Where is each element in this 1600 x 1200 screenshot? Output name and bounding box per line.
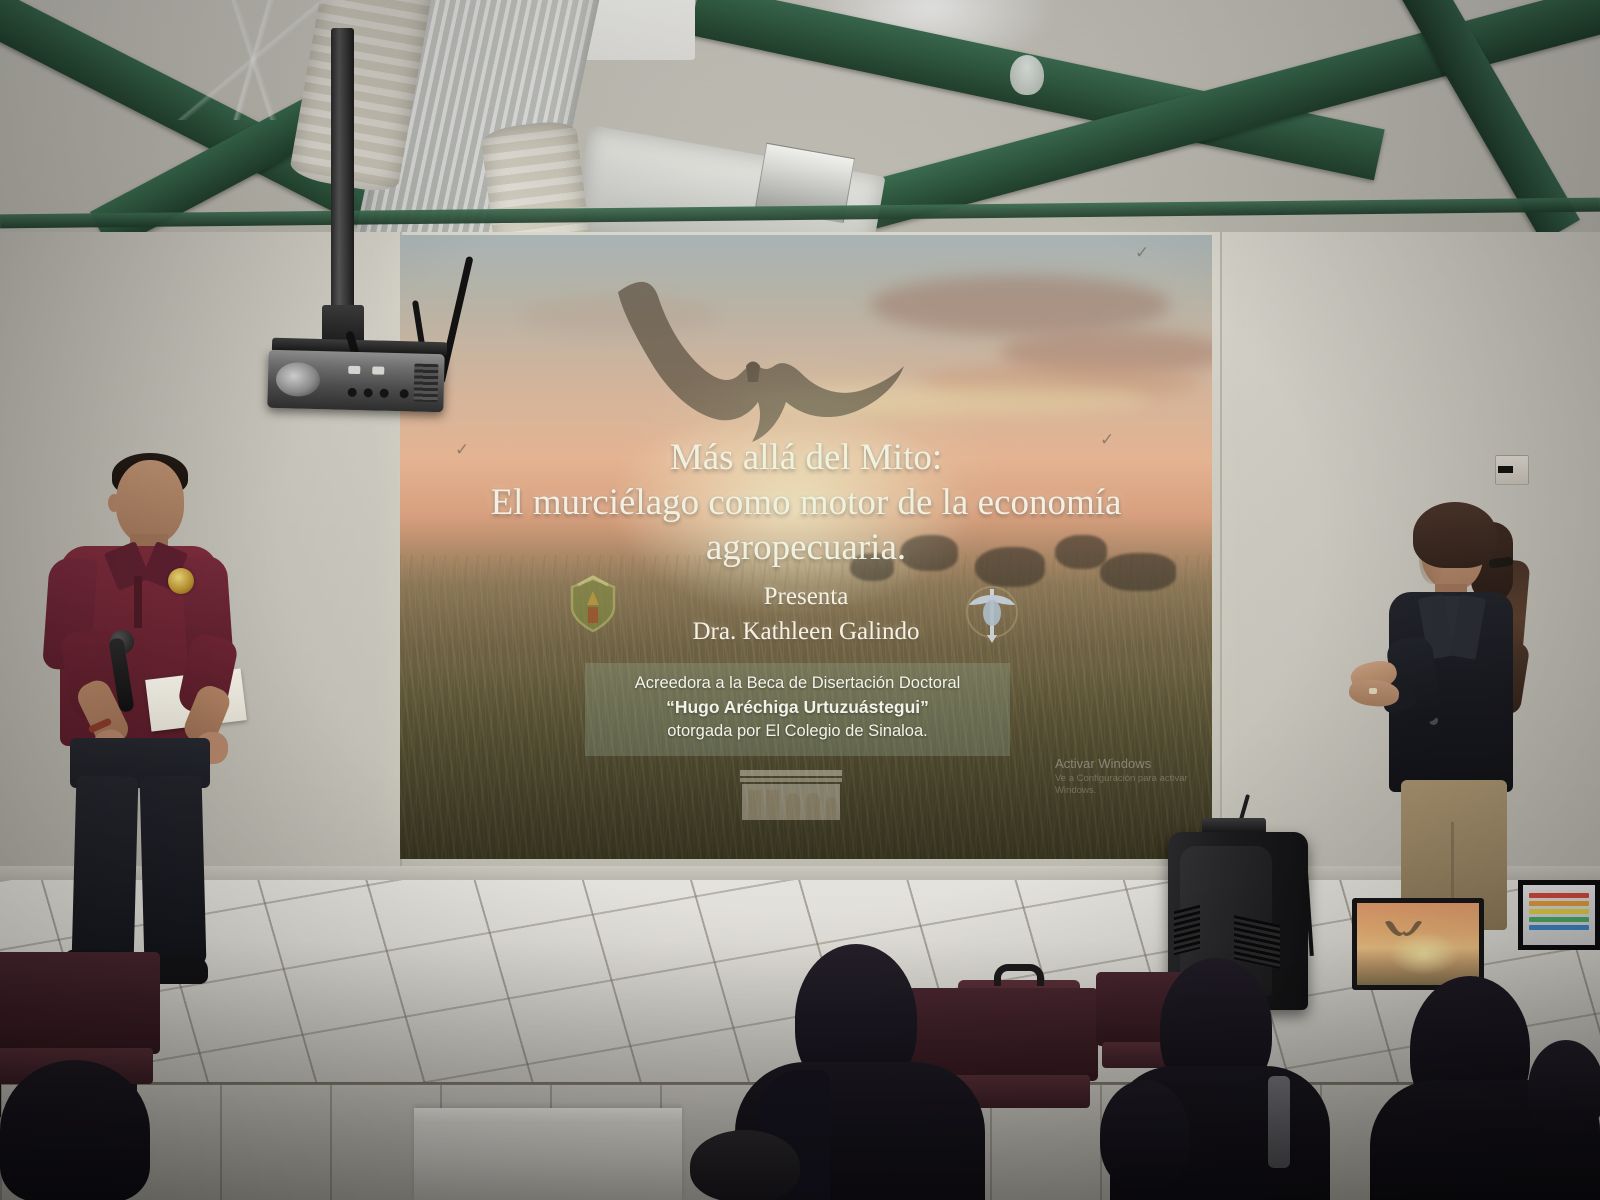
bat-silhouette	[600, 270, 910, 455]
projected-slide: ✓ ✓ ✓ Más allá del Mito: El murciélago c…	[400, 235, 1212, 859]
colegio-de-sinaloa-building-logo	[736, 760, 846, 824]
chair-leg	[0, 1084, 1, 1117]
windows-activation-watermark: Activar Windows Ve a Configuración para …	[1055, 755, 1212, 798]
jacket-stripe	[1268, 1076, 1290, 1168]
projector-button[interactable]	[372, 366, 384, 374]
slide-title-line-2: El murciélago como motor de la economía	[420, 480, 1192, 525]
ring	[1369, 688, 1377, 694]
award-line-2: “Hugo Aréchiga Urtuzuástegui”	[593, 695, 1002, 720]
head	[116, 460, 184, 544]
audience-head	[1100, 1080, 1190, 1190]
projector-vent	[413, 364, 438, 403]
award-line-1: Acreedora a la Beca de Disertación Docto…	[593, 672, 1002, 695]
audience-silhouettes	[0, 880, 1600, 1200]
bird-silhouette: ✓	[1135, 243, 1149, 263]
slide-title-line-1: Más allá del Mito:	[420, 435, 1192, 480]
slide-title-line-3: agropecuaria.	[420, 525, 1192, 570]
veterinary-caduceus-logo	[963, 579, 1021, 645]
polo-placket	[134, 576, 142, 628]
projector-mount-pole	[331, 28, 354, 328]
award-line-3: otorgada por El Colegio de Sinaloa.	[593, 720, 1002, 743]
projector-mount-bracket	[322, 305, 364, 343]
projector-port	[400, 389, 409, 398]
audience-head	[690, 1130, 800, 1200]
cloud	[870, 275, 1170, 335]
projector-button[interactable]	[348, 366, 360, 374]
watermark-title: Activar Windows	[1055, 755, 1212, 773]
audience-head	[1528, 1040, 1600, 1136]
ear	[108, 494, 120, 512]
slide-presenter-block: Presenta Dra. Kathleen Galindo	[420, 580, 1192, 649]
audience-head	[0, 1060, 150, 1200]
shirt-emblem-badge	[168, 568, 194, 594]
presenter-name: Dra. Kathleen Galindo	[420, 615, 1192, 650]
presentation-scene: ✓ ✓ ✓ Más allá del Mito: El murciélago c…	[0, 0, 1600, 1200]
projector-port	[380, 389, 389, 398]
presenta-label: Presenta	[420, 580, 1192, 615]
slide-title: Más allá del Mito: El murciélago como mo…	[420, 435, 1192, 570]
award-text-box: Acreedora a la Beca de Disertación Docto…	[585, 663, 1010, 756]
projector-port	[348, 388, 357, 397]
ceiling-projector	[267, 350, 444, 413]
wall-seam	[1220, 232, 1222, 892]
ceiling-lamp	[1010, 55, 1044, 95]
ceiling	[0, 0, 1600, 232]
hair	[1413, 502, 1497, 568]
light-switch-rocker[interactable]	[1498, 466, 1513, 473]
watermark-subtitle: Ve a Configuración para activar Windows.	[1055, 773, 1212, 799]
projector-lens	[276, 362, 321, 397]
projector-port	[364, 388, 373, 397]
chair-back	[0, 952, 160, 1054]
